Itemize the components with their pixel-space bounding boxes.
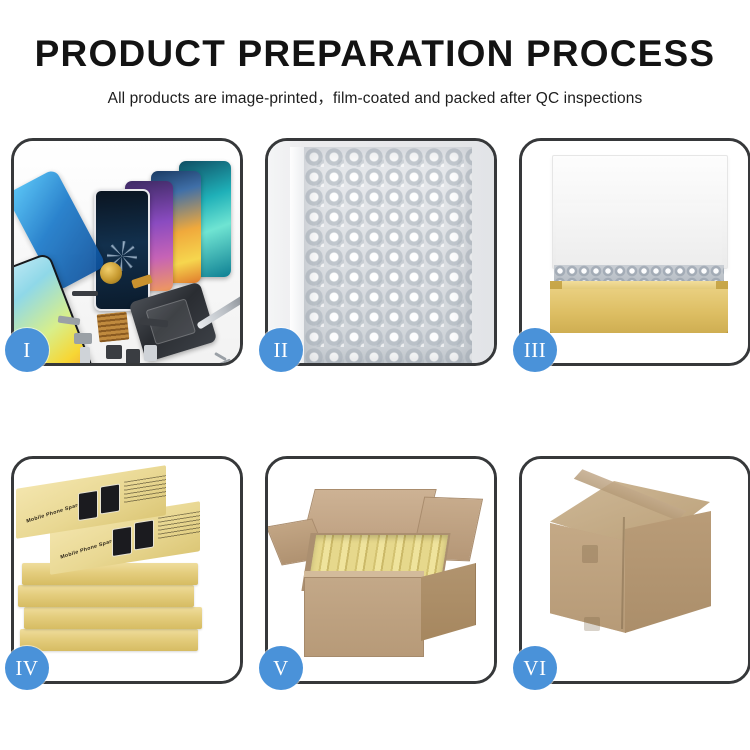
step-2-image xyxy=(268,141,494,363)
process-step-panel-5: V xyxy=(265,456,497,684)
sealed-carton-notch-bottom xyxy=(584,617,600,631)
step-4-image: Mobile Phone Spare Parts Mobile Phone Sp… xyxy=(14,459,240,681)
retail-box-phone-image-2b xyxy=(134,519,154,550)
page-header: PRODUCT PREPARATION PROCESS All products… xyxy=(0,0,750,108)
retail-box-bottom-2 xyxy=(24,607,202,629)
inner-box-foam xyxy=(556,203,722,265)
bracket-part xyxy=(144,345,157,361)
process-steps-grid: I II III xyxy=(11,138,739,684)
page-subtitle: All products are image-printed，film-coat… xyxy=(0,75,750,108)
flex-cable-part xyxy=(72,291,98,296)
sealed-carton-notch-top xyxy=(582,545,598,563)
step-6-image xyxy=(522,459,748,681)
sim-tray-part xyxy=(80,347,90,363)
step-badge-1: I xyxy=(5,328,49,372)
process-step-panel-3: III xyxy=(519,138,750,366)
speaker-part xyxy=(100,262,122,284)
step-badge-5: V xyxy=(259,646,303,690)
retail-box-stack: Mobile Phone Spare Parts Mobile Phone Sp… xyxy=(14,459,240,681)
step-badge-4: IV xyxy=(5,646,49,690)
page-title: PRODUCT PREPARATION PROCESS xyxy=(0,0,750,75)
process-step-panel-6: VI xyxy=(519,456,750,684)
step-badge-2: II xyxy=(259,328,303,372)
retail-box-phone-image-2a xyxy=(112,526,132,557)
logic-board-part xyxy=(97,312,130,343)
step-badge-3: III xyxy=(513,328,557,372)
retail-box-phone-image-1a xyxy=(78,490,98,521)
retail-box-spec-list-1 xyxy=(124,475,166,504)
process-step-panel-2: II xyxy=(265,138,497,366)
retail-box-bottom-1 xyxy=(20,629,198,651)
retail-box-bottom-3 xyxy=(18,585,194,607)
retail-box-bottom-4 xyxy=(22,563,198,585)
carton-front-face xyxy=(304,577,424,657)
sealed-carton-right-face xyxy=(625,511,711,633)
camera-module-part xyxy=(74,333,92,344)
retail-box-spec-list-2 xyxy=(158,511,200,540)
bubble-wrap-sheet xyxy=(304,147,472,363)
step-badge-6: VI xyxy=(513,646,557,690)
step-5-image xyxy=(268,459,494,681)
vibrator-part xyxy=(106,345,122,359)
process-step-panel-4: Mobile Phone Spare Parts Mobile Phone Sp… xyxy=(11,456,243,684)
battery-connector-part xyxy=(126,349,140,363)
process-step-panel-1: I xyxy=(11,138,243,366)
phone-cracked-screen xyxy=(94,189,150,311)
inner-box-front xyxy=(550,289,728,333)
step-3-image xyxy=(522,141,748,363)
retail-box-phone-image-1b xyxy=(100,483,120,514)
step-1-image xyxy=(14,141,240,363)
